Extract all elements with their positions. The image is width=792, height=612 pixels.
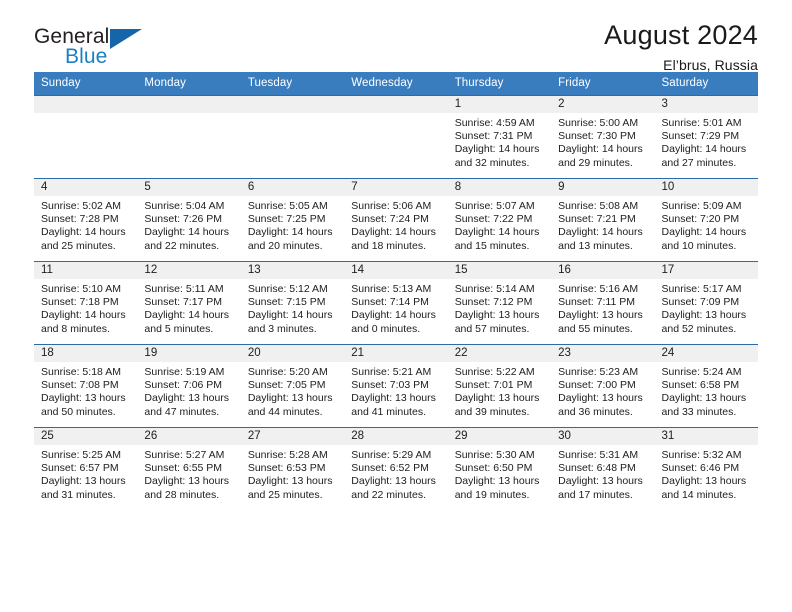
page-subtitle-location: El’brus, Russia [604,57,758,73]
calendar-day-cell[interactable]: 20Sunrise: 5:20 AMSunset: 7:05 PMDayligh… [241,345,344,428]
sunset-text: Sunset: 7:28 PM [41,213,131,226]
day-details: Sunrise: 5:12 AMSunset: 7:15 PMDaylight:… [241,279,344,336]
daylight-text: Daylight: 13 hours [248,392,338,405]
sunset-text: Sunset: 6:53 PM [248,462,338,475]
sunrise-text: Sunrise: 5:31 AM [558,449,648,462]
daylight-text: Daylight: 14 hours [248,309,338,322]
day-number: 23 [551,345,654,362]
calendar-day-cell[interactable]: 18Sunrise: 5:18 AMSunset: 7:08 PMDayligh… [34,345,137,428]
sunset-text: Sunset: 6:52 PM [351,462,441,475]
daylight-text: Daylight: 13 hours [351,392,441,405]
sunset-text: Sunset: 7:24 PM [351,213,441,226]
calendar-day-cell[interactable]: 19Sunrise: 5:19 AMSunset: 7:06 PMDayligh… [137,345,240,428]
day-details: Sunrise: 5:28 AMSunset: 6:53 PMDaylight:… [241,445,344,502]
daylight-text-cont: and 52 minutes. [662,323,752,336]
page-header: General Blue August 2024 El’brus, Russia [34,0,758,72]
day-number: 24 [655,345,758,362]
sunset-text: Sunset: 6:48 PM [558,462,648,475]
sunset-text: Sunset: 7:25 PM [248,213,338,226]
daylight-text: Daylight: 13 hours [455,309,545,322]
day-number [137,96,240,113]
sunrise-text: Sunrise: 5:11 AM [144,283,234,296]
weekday-header-tuesday: Tuesday [241,72,344,96]
day-number: 14 [344,262,447,279]
sunset-text: Sunset: 7:01 PM [455,379,545,392]
daylight-text-cont: and 47 minutes. [144,406,234,419]
daylight-text-cont: and 13 minutes. [558,240,648,253]
sunrise-text: Sunrise: 5:25 AM [41,449,131,462]
calendar-day-cell-empty [137,96,240,179]
daylight-text: Daylight: 13 hours [248,475,338,488]
sunset-text: Sunset: 7:17 PM [144,296,234,309]
day-number: 2 [551,96,654,113]
sunrise-text: Sunrise: 5:06 AM [351,200,441,213]
day-number: 15 [448,262,551,279]
sunrise-text: Sunrise: 5:32 AM [662,449,752,462]
daylight-text: Daylight: 14 hours [455,226,545,239]
calendar-day-cell[interactable]: 27Sunrise: 5:28 AMSunset: 6:53 PMDayligh… [241,428,344,511]
daylight-text: Daylight: 13 hours [41,392,131,405]
calendar-week-row: 1Sunrise: 4:59 AMSunset: 7:31 PMDaylight… [34,96,758,179]
daylight-text: Daylight: 14 hours [351,309,441,322]
sunset-text: Sunset: 7:30 PM [558,130,648,143]
daylight-text: Daylight: 14 hours [558,143,648,156]
day-number: 30 [551,428,654,445]
brand-logo[interactable]: General Blue [34,26,109,67]
calendar-day-cell[interactable]: 6Sunrise: 5:05 AMSunset: 7:25 PMDaylight… [241,179,344,262]
calendar-day-cell[interactable]: 26Sunrise: 5:27 AMSunset: 6:55 PMDayligh… [137,428,240,511]
day-details: Sunrise: 5:24 AMSunset: 6:58 PMDaylight:… [655,362,758,419]
day-details: Sunrise: 5:11 AMSunset: 7:17 PMDaylight:… [137,279,240,336]
day-number: 5 [137,179,240,196]
calendar-header-row: Sunday Monday Tuesday Wednesday Thursday… [34,72,758,96]
day-details: Sunrise: 5:01 AMSunset: 7:29 PMDaylight:… [655,113,758,170]
day-details: Sunrise: 5:18 AMSunset: 7:08 PMDaylight:… [34,362,137,419]
day-number: 25 [34,428,137,445]
sunrise-text: Sunrise: 5:13 AM [351,283,441,296]
daylight-text: Daylight: 14 hours [144,226,234,239]
calendar-day-cell[interactable]: 1Sunrise: 4:59 AMSunset: 7:31 PMDaylight… [448,96,551,179]
daylight-text-cont: and 55 minutes. [558,323,648,336]
day-details: Sunrise: 5:22 AMSunset: 7:01 PMDaylight:… [448,362,551,419]
day-details: Sunrise: 5:25 AMSunset: 6:57 PMDaylight:… [34,445,137,502]
calendar-day-cell[interactable]: 30Sunrise: 5:31 AMSunset: 6:48 PMDayligh… [551,428,654,511]
sunset-text: Sunset: 7:03 PM [351,379,441,392]
brand-text-blue: Blue [65,46,109,67]
sunset-text: Sunset: 7:15 PM [248,296,338,309]
calendar-day-cell[interactable]: 25Sunrise: 5:25 AMSunset: 6:57 PMDayligh… [34,428,137,511]
daylight-text: Daylight: 13 hours [351,475,441,488]
daylight-text-cont: and 25 minutes. [41,240,131,253]
sunset-text: Sunset: 7:09 PM [662,296,752,309]
daylight-text: Daylight: 13 hours [455,475,545,488]
day-number: 4 [34,179,137,196]
sunrise-text: Sunrise: 5:07 AM [455,200,545,213]
day-details: Sunrise: 5:10 AMSunset: 7:18 PMDaylight:… [34,279,137,336]
sunrise-text: Sunrise: 5:22 AM [455,366,545,379]
daylight-text: Daylight: 14 hours [558,226,648,239]
day-number: 1 [448,96,551,113]
daylight-text: Daylight: 14 hours [662,226,752,239]
day-number [241,96,344,113]
sunset-text: Sunset: 6:57 PM [41,462,131,475]
sunrise-text: Sunrise: 5:10 AM [41,283,131,296]
daylight-text-cont: and 22 minutes. [351,489,441,502]
daylight-text: Daylight: 13 hours [41,475,131,488]
day-details: Sunrise: 5:21 AMSunset: 7:03 PMDaylight:… [344,362,447,419]
sunrise-text: Sunrise: 5:14 AM [455,283,545,296]
day-number: 21 [344,345,447,362]
daylight-text-cont: and 31 minutes. [41,489,131,502]
sunset-text: Sunset: 7:31 PM [455,130,545,143]
weekday-header-friday: Friday [551,72,654,96]
daylight-text: Daylight: 13 hours [558,392,648,405]
sunset-text: Sunset: 6:46 PM [662,462,752,475]
daylight-text-cont: and 41 minutes. [351,406,441,419]
day-number: 17 [655,262,758,279]
sunrise-text: Sunrise: 5:17 AM [662,283,752,296]
day-details: Sunrise: 5:17 AMSunset: 7:09 PMDaylight:… [655,279,758,336]
sunset-text: Sunset: 6:50 PM [455,462,545,475]
daylight-text-cont: and 27 minutes. [662,157,752,170]
calendar-day-cell[interactable]: 11Sunrise: 5:10 AMSunset: 7:18 PMDayligh… [34,262,137,345]
day-details: Sunrise: 5:14 AMSunset: 7:12 PMDaylight:… [448,279,551,336]
calendar-day-cell[interactable]: 5Sunrise: 5:04 AMSunset: 7:26 PMDaylight… [137,179,240,262]
sunrise-text: Sunrise: 5:29 AM [351,449,441,462]
day-details: Sunrise: 5:09 AMSunset: 7:20 PMDaylight:… [655,196,758,253]
calendar-body: 1Sunrise: 4:59 AMSunset: 7:31 PMDaylight… [34,96,758,511]
daylight-text-cont: and 3 minutes. [248,323,338,336]
calendar-day-cell-empty [34,96,137,179]
calendar-day-cell[interactable]: 12Sunrise: 5:11 AMSunset: 7:17 PMDayligh… [137,262,240,345]
brand-name-general: General [34,26,109,49]
daylight-text: Daylight: 14 hours [662,143,752,156]
weekday-header-saturday: Saturday [655,72,758,96]
title-block: August 2024 El’brus, Russia [604,20,758,73]
calendar-day-cell[interactable]: 4Sunrise: 5:02 AMSunset: 7:28 PMDaylight… [34,179,137,262]
daylight-text: Daylight: 13 hours [662,392,752,405]
page-title: August 2024 [604,20,758,51]
sunset-text: Sunset: 7:08 PM [41,379,131,392]
day-number: 20 [241,345,344,362]
calendar-day-cell-empty [241,96,344,179]
day-details: Sunrise: 5:29 AMSunset: 6:52 PMDaylight:… [344,445,447,502]
daylight-text-cont: and 19 minutes. [455,489,545,502]
day-number: 3 [655,96,758,113]
sunrise-text: Sunrise: 5:12 AM [248,283,338,296]
sunrise-text: Sunrise: 5:28 AM [248,449,338,462]
daylight-text-cont: and 17 minutes. [558,489,648,502]
daylight-text-cont: and 0 minutes. [351,323,441,336]
sunrise-text: Sunrise: 5:01 AM [662,117,752,130]
day-details: Sunrise: 5:05 AMSunset: 7:25 PMDaylight:… [241,196,344,253]
sunrise-text: Sunrise: 5:16 AM [558,283,648,296]
sunset-text: Sunset: 7:00 PM [558,379,648,392]
calendar-day-cell[interactable]: 24Sunrise: 5:24 AMSunset: 6:58 PMDayligh… [655,345,758,428]
weekday-header-thursday: Thursday [448,72,551,96]
day-details: Sunrise: 5:19 AMSunset: 7:06 PMDaylight:… [137,362,240,419]
day-number [34,96,137,113]
sunrise-text: Sunrise: 5:04 AM [144,200,234,213]
day-number: 8 [448,179,551,196]
sunset-text: Sunset: 7:18 PM [41,296,131,309]
day-number: 28 [344,428,447,445]
day-details: Sunrise: 5:23 AMSunset: 7:00 PMDaylight:… [551,362,654,419]
day-number: 27 [241,428,344,445]
daylight-text-cont: and 22 minutes. [144,240,234,253]
sunrise-text: Sunrise: 5:23 AM [558,366,648,379]
day-number: 6 [241,179,344,196]
daylight-text-cont: and 32 minutes. [455,157,545,170]
sunrise-text: Sunrise: 5:05 AM [248,200,338,213]
daylight-text: Daylight: 13 hours [144,475,234,488]
calendar-day-cell[interactable]: 15Sunrise: 5:14 AMSunset: 7:12 PMDayligh… [448,262,551,345]
daylight-text-cont: and 57 minutes. [455,323,545,336]
daylight-text-cont: and 5 minutes. [144,323,234,336]
day-number: 26 [137,428,240,445]
day-number: 7 [344,179,447,196]
calendar-week-row: 25Sunrise: 5:25 AMSunset: 6:57 PMDayligh… [34,428,758,511]
sunset-text: Sunset: 7:14 PM [351,296,441,309]
daylight-text: Daylight: 13 hours [558,475,648,488]
daylight-text-cont: and 36 minutes. [558,406,648,419]
day-details: Sunrise: 4:59 AMSunset: 7:31 PMDaylight:… [448,113,551,170]
day-number: 9 [551,179,654,196]
daylight-text-cont: and 33 minutes. [662,406,752,419]
daylight-text-cont: and 28 minutes. [144,489,234,502]
sunrise-text: Sunrise: 5:30 AM [455,449,545,462]
daylight-text-cont: and 50 minutes. [41,406,131,419]
sunrise-text: Sunrise: 5:08 AM [558,200,648,213]
sunset-text: Sunset: 7:06 PM [144,379,234,392]
sunset-text: Sunset: 7:21 PM [558,213,648,226]
daylight-text: Daylight: 14 hours [351,226,441,239]
daylight-text-cont: and 20 minutes. [248,240,338,253]
daylight-text: Daylight: 14 hours [455,143,545,156]
daylight-text: Daylight: 13 hours [144,392,234,405]
calendar-day-cell[interactable]: 7Sunrise: 5:06 AMSunset: 7:24 PMDaylight… [344,179,447,262]
sunrise-text: Sunrise: 5:18 AM [41,366,131,379]
day-number: 29 [448,428,551,445]
daylight-text-cont: and 18 minutes. [351,240,441,253]
sunrise-text: Sunrise: 5:09 AM [662,200,752,213]
sunrise-text: Sunrise: 4:59 AM [455,117,545,130]
calendar-day-cell[interactable]: 22Sunrise: 5:22 AMSunset: 7:01 PMDayligh… [448,345,551,428]
calendar-week-row: 18Sunrise: 5:18 AMSunset: 7:08 PMDayligh… [34,345,758,428]
daylight-text-cont: and 39 minutes. [455,406,545,419]
calendar-day-cell[interactable]: 23Sunrise: 5:23 AMSunset: 7:00 PMDayligh… [551,345,654,428]
brand-text-general: General [34,25,109,48]
weekday-header-sunday: Sunday [34,72,137,96]
calendar-day-cell[interactable]: 29Sunrise: 5:30 AMSunset: 6:50 PMDayligh… [448,428,551,511]
sunrise-text: Sunrise: 5:24 AM [662,366,752,379]
calendar-week-row: 11Sunrise: 5:10 AMSunset: 7:18 PMDayligh… [34,262,758,345]
calendar-day-cell-empty [344,96,447,179]
day-details: Sunrise: 5:20 AMSunset: 7:05 PMDaylight:… [241,362,344,419]
sunrise-text: Sunrise: 5:21 AM [351,366,441,379]
sunset-text: Sunset: 7:20 PM [662,213,752,226]
triangle-flag-icon [110,29,142,49]
calendar-week-row: 4Sunrise: 5:02 AMSunset: 7:28 PMDaylight… [34,179,758,262]
sunrise-text: Sunrise: 5:19 AM [144,366,234,379]
day-number: 10 [655,179,758,196]
daylight-text: Daylight: 14 hours [144,309,234,322]
day-details: Sunrise: 5:32 AMSunset: 6:46 PMDaylight:… [655,445,758,502]
daylight-text: Daylight: 14 hours [41,309,131,322]
daylight-text-cont: and 10 minutes. [662,240,752,253]
sunset-text: Sunset: 7:29 PM [662,130,752,143]
calendar-day-cell[interactable]: 21Sunrise: 5:21 AMSunset: 7:03 PMDayligh… [344,345,447,428]
calendar-day-cell[interactable]: 28Sunrise: 5:29 AMSunset: 6:52 PMDayligh… [344,428,447,511]
weekday-header-wednesday: Wednesday [344,72,447,96]
day-number: 18 [34,345,137,362]
day-details: Sunrise: 5:06 AMSunset: 7:24 PMDaylight:… [344,196,447,253]
sunset-text: Sunset: 6:55 PM [144,462,234,475]
day-details: Sunrise: 5:30 AMSunset: 6:50 PMDaylight:… [448,445,551,502]
daylight-text-cont: and 44 minutes. [248,406,338,419]
calendar-day-cell[interactable]: 16Sunrise: 5:16 AMSunset: 7:11 PMDayligh… [551,262,654,345]
daylight-text: Daylight: 14 hours [248,226,338,239]
sunset-text: Sunset: 7:11 PM [558,296,648,309]
calendar-day-cell[interactable]: 10Sunrise: 5:09 AMSunset: 7:20 PMDayligh… [655,179,758,262]
day-details: Sunrise: 5:04 AMSunset: 7:26 PMDaylight:… [137,196,240,253]
day-number: 19 [137,345,240,362]
calendar-table: Sunday Monday Tuesday Wednesday Thursday… [34,72,758,510]
calendar-day-cell[interactable]: 14Sunrise: 5:13 AMSunset: 7:14 PMDayligh… [344,262,447,345]
daylight-text: Daylight: 13 hours [662,309,752,322]
daylight-text-cont: and 25 minutes. [248,489,338,502]
daylight-text: Daylight: 14 hours [41,226,131,239]
day-details: Sunrise: 5:00 AMSunset: 7:30 PMDaylight:… [551,113,654,170]
day-details: Sunrise: 5:02 AMSunset: 7:28 PMDaylight:… [34,196,137,253]
daylight-text-cont: and 29 minutes. [558,157,648,170]
daylight-text: Daylight: 13 hours [662,475,752,488]
sunrise-text: Sunrise: 5:27 AM [144,449,234,462]
day-number: 11 [34,262,137,279]
calendar-day-cell[interactable]: 13Sunrise: 5:12 AMSunset: 7:15 PMDayligh… [241,262,344,345]
day-details: Sunrise: 5:27 AMSunset: 6:55 PMDaylight:… [137,445,240,502]
calendar-day-cell[interactable]: 8Sunrise: 5:07 AMSunset: 7:22 PMDaylight… [448,179,551,262]
daylight-text-cont: and 8 minutes. [41,323,131,336]
day-number: 13 [241,262,344,279]
sunrise-text: Sunrise: 5:02 AM [41,200,131,213]
calendar-day-cell[interactable]: 17Sunrise: 5:17 AMSunset: 7:09 PMDayligh… [655,262,758,345]
day-details: Sunrise: 5:31 AMSunset: 6:48 PMDaylight:… [551,445,654,502]
calendar-day-cell[interactable]: 31Sunrise: 5:32 AMSunset: 6:46 PMDayligh… [655,428,758,511]
sunset-text: Sunset: 7:12 PM [455,296,545,309]
weekday-header-monday: Monday [137,72,240,96]
day-number: 12 [137,262,240,279]
calendar-day-cell[interactable]: 2Sunrise: 5:00 AMSunset: 7:30 PMDaylight… [551,96,654,179]
sunset-text: Sunset: 7:22 PM [455,213,545,226]
daylight-text: Daylight: 13 hours [455,392,545,405]
sunset-text: Sunset: 6:58 PM [662,379,752,392]
daylight-text-cont: and 14 minutes. [662,489,752,502]
day-number [344,96,447,113]
day-details: Sunrise: 5:13 AMSunset: 7:14 PMDaylight:… [344,279,447,336]
day-details: Sunrise: 5:07 AMSunset: 7:22 PMDaylight:… [448,196,551,253]
sunset-text: Sunset: 7:26 PM [144,213,234,226]
day-details: Sunrise: 5:08 AMSunset: 7:21 PMDaylight:… [551,196,654,253]
calendar-day-cell[interactable]: 3Sunrise: 5:01 AMSunset: 7:29 PMDaylight… [655,96,758,179]
day-number: 31 [655,428,758,445]
day-number: 16 [551,262,654,279]
sunrise-text: Sunrise: 5:00 AM [558,117,648,130]
calendar-day-cell[interactable]: 9Sunrise: 5:08 AMSunset: 7:21 PMDaylight… [551,179,654,262]
daylight-text: Daylight: 13 hours [558,309,648,322]
sunrise-text: Sunrise: 5:20 AM [248,366,338,379]
calendar-page: General Blue August 2024 El’brus, Russia… [0,0,792,612]
sunset-text: Sunset: 7:05 PM [248,379,338,392]
day-number: 22 [448,345,551,362]
day-details: Sunrise: 5:16 AMSunset: 7:11 PMDaylight:… [551,279,654,336]
daylight-text-cont: and 15 minutes. [455,240,545,253]
